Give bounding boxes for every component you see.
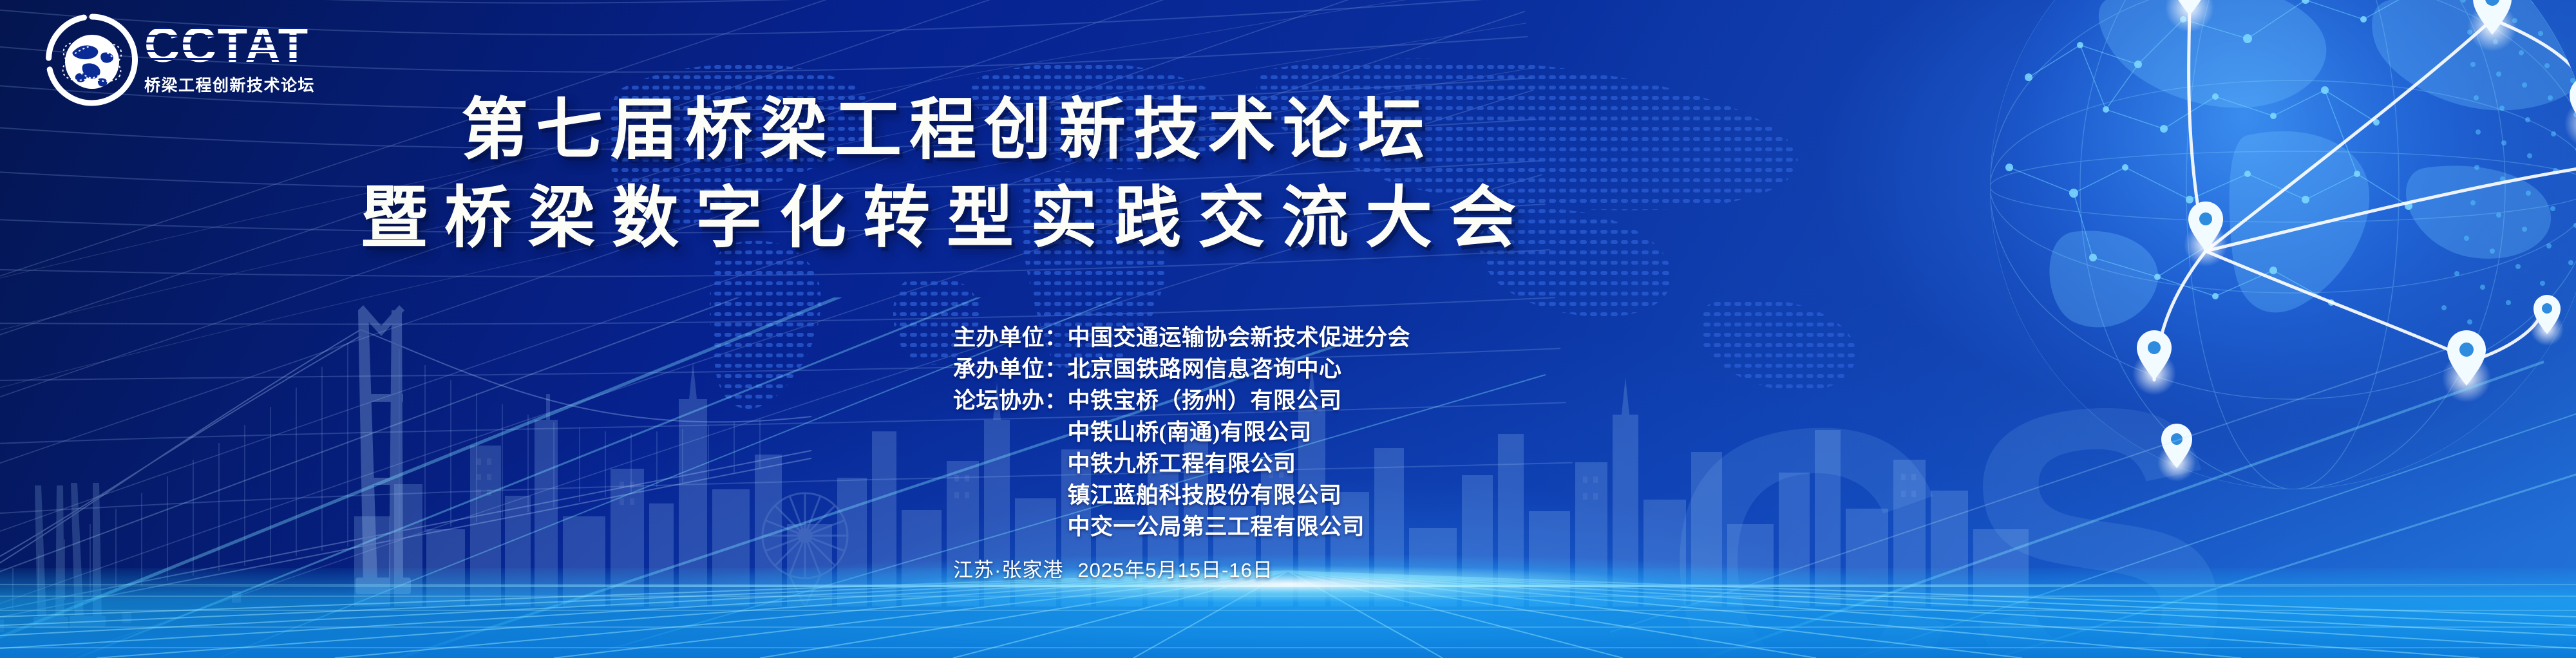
organizer-row: 承办单位： 北京国铁路网信息咨询中心 [953,353,1410,385]
organizer-value: 中交一公局第三工程有限公司 [1068,511,1365,543]
organizer-value: 北京国铁路网信息咨询中心 [1068,353,1342,385]
organizer-label: 主办单位： [953,322,1068,353]
organizer-row: 主办单位： 中国交通运输协会新技术促进分会 [953,322,1410,353]
organizer-value: 镇江蓝舶科技股份有限公司 [1068,480,1342,511]
event-location: 江苏·张家港 [953,554,1063,583]
organizer-row: 论坛协办： 中交一公局第三工程有限公司 [953,511,1410,543]
event-meta: 江苏·张家港 2025年5月15日-16日 [953,554,1273,583]
horizon-glow [515,545,2061,623]
suspension-bridge-icon [0,233,811,632]
organizer-label: 承办单位： [953,353,1068,385]
horizon-line [0,585,2576,587]
cctat-logo[interactable]: CCTAT 桥梁工程创新技术论坛 [44,12,315,108]
organizer-list: 主办单位： 中国交通运输协会新技术促进分会 承办单位： 北京国铁路网信息咨询中心… [953,322,1410,543]
logo-acronym: CCTAT [144,21,315,70]
organizer-row: 论坛协办： 中铁山桥(南通)有限公司 [953,417,1410,448]
organizer-value: 中铁宝桥（扬州）有限公司 [1068,385,1342,417]
globe-orbit-icon [44,12,140,108]
organizer-value: 中铁九桥工程有限公司 [1068,448,1296,480]
conference-banner: CS [0,0,2576,658]
organizer-row: 论坛协办： 中铁九桥工程有限公司 [953,448,1410,480]
digital-globe-icon [1913,0,2576,567]
cs-watermark: CS [1653,385,2251,658]
organizer-value: 中国交通运输协会新技术促进分会 [1068,322,1411,353]
logo-subtitle: 桥梁工程创新技术论坛 [144,73,315,96]
organizer-row: 论坛协办： 中铁宝桥（扬州）有限公司 [953,385,1410,417]
title-line-2: 暨桥梁数字化转型实践交流大会 [26,178,1868,260]
organizer-value: 中铁山桥(南通)有限公司 [1068,417,1312,448]
page-title: 第七届桥梁工程创新技术论坛 暨桥梁数字化转型实践交流大会 [0,90,2576,260]
organizer-row: 论坛协办： 镇江蓝舶科技股份有限公司 [953,480,1410,511]
organizer-label: 论坛协办： [953,385,1068,417]
event-date: 2025年5月15日-16日 [1077,554,1273,583]
